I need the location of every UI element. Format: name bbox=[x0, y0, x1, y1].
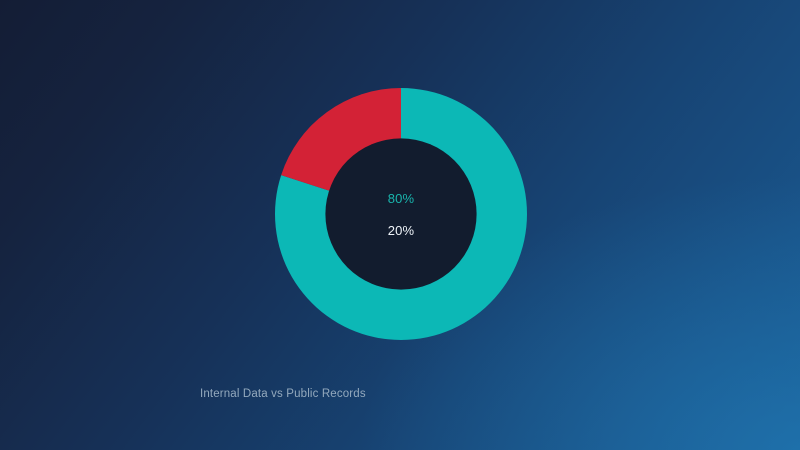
donut-hole bbox=[325, 138, 476, 289]
chart-caption: Internal Data vs Public Records bbox=[200, 388, 366, 400]
donut-chart: 80% 20% Internal Data vs Public Records bbox=[0, 0, 800, 450]
chart-canvas: 80% 20% Internal Data vs Public Records bbox=[0, 0, 800, 450]
donut-ring bbox=[275, 88, 527, 340]
donut-svg bbox=[275, 88, 527, 340]
